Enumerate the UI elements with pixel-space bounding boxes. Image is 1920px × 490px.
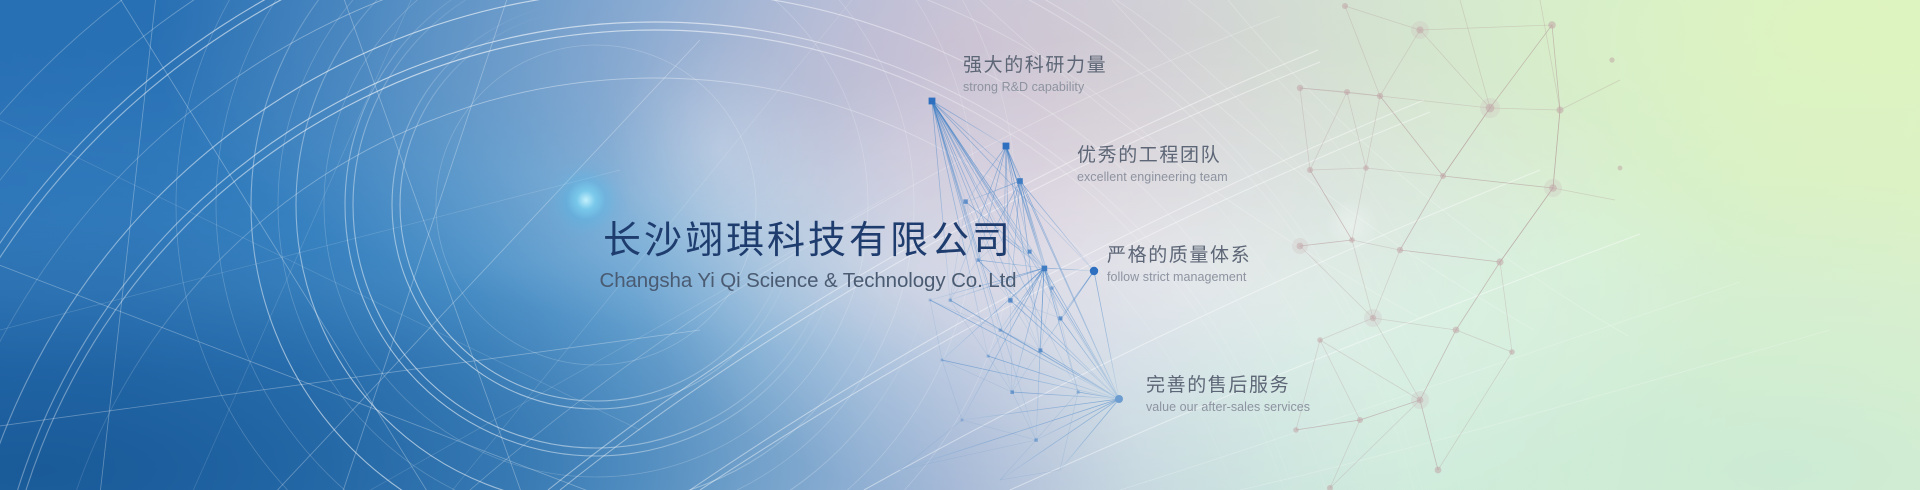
company-hero-banner: 长沙翊琪科技有限公司 Changsha Yi Qi Science & Tech… — [0, 0, 1920, 490]
network-links-faint — [900, 202, 1078, 480]
network-links — [900, 101, 1119, 480]
center-network-constellation — [0, 0, 1920, 490]
